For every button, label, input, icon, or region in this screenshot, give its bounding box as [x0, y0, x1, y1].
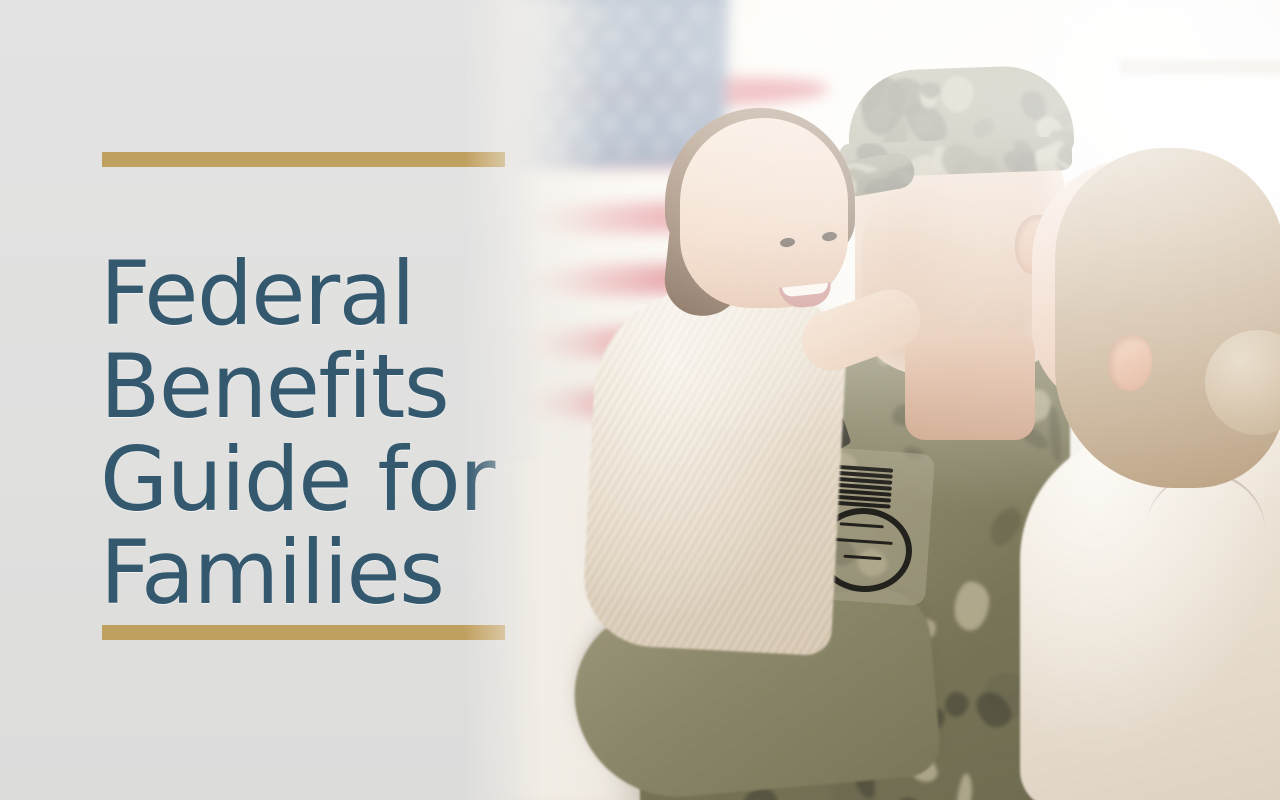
camo-blob	[953, 773, 974, 800]
camo-blob	[944, 690, 971, 719]
child-head	[680, 118, 848, 308]
camo-blob	[1047, 405, 1063, 462]
camo-blob	[889, 794, 933, 800]
window-frame	[1120, 60, 1280, 74]
page-title: Federal Benefits Guide for Families	[100, 247, 560, 619]
title-panel-wrapper: Federal Benefits Guide for Families	[0, 0, 540, 800]
patch-insignia-line	[843, 555, 881, 561]
slide-canvas: Federal Benefits Guide for Families	[0, 0, 1280, 800]
camo-blob	[937, 73, 977, 116]
gold-accent-rule-top	[102, 152, 505, 167]
gold-accent-rule-bottom	[102, 625, 505, 640]
woman-hair	[1055, 148, 1280, 488]
camo-blob	[952, 580, 991, 633]
title-panel: Federal Benefits Guide for Families	[0, 0, 540, 800]
patch-insignia-line	[840, 522, 884, 528]
patch-insignia-line	[833, 538, 893, 545]
soldier-neck	[905, 330, 1035, 440]
